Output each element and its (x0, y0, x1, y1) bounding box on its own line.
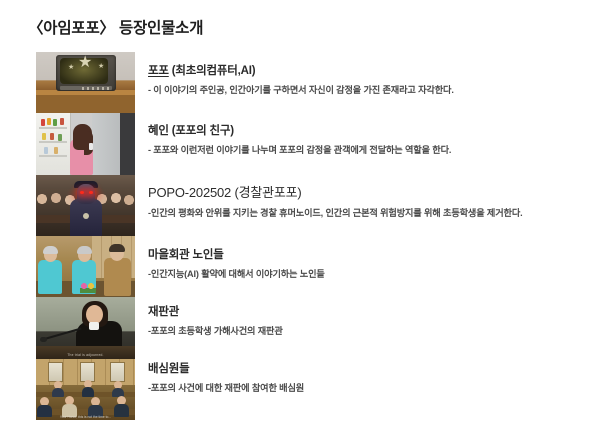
character-entry-judge: 재판관 -포포의 초등학생 가해사건의 재판관 (148, 303, 594, 337)
desk-surface (36, 90, 135, 113)
robot-head (77, 184, 95, 204)
refrigerator-door (92, 113, 120, 174)
police-badge-icon (83, 213, 89, 219)
robot-eye-right (89, 191, 93, 194)
tv-screen (60, 58, 108, 84)
character-entry-hyein: 혜인 (포포의 친구) - 포포와 이런저런 이야기를 나누며 포포의 감정을 … (148, 122, 594, 156)
smartphone-icon (89, 143, 93, 150)
window (110, 362, 125, 382)
fridge-item (41, 119, 45, 126)
thumbnail-vintage-crt-tv (36, 52, 135, 113)
juror-body (82, 387, 94, 397)
fridge-item (53, 119, 57, 126)
thumbnail-column: The trial is adjourned. Your Honor, this (36, 52, 135, 420)
character-name-judge: 재판관 (148, 303, 594, 319)
character-name-rest: (최초의컴퓨터,AI) (169, 65, 256, 77)
character-description-popo: - 이 이야기의 주인공, 인간아기를 구하면서 자신이 감정을 가진 존재라고… (148, 82, 594, 96)
fridge-item (47, 118, 51, 125)
fridge-item (50, 133, 54, 140)
microphone-icon (40, 337, 47, 342)
elder-hair-right (109, 244, 125, 252)
character-entry-village-elders: 마을회관 노인들 -인간지능(AI) 활약에 대해서 이야기하는 노인들 (148, 246, 594, 280)
thumbnail-jurors: Your Honor, this is not the time to... (36, 359, 135, 420)
thumbnail-woman-by-refrigerator (36, 113, 135, 174)
fridge-shelf (39, 127, 67, 129)
character-description-judge: -포포의 초등학생 가해사건의 재판관 (148, 323, 594, 337)
fridge-item (60, 118, 64, 125)
character-entry-jurors: 배심원들 -포포의 사건에 대한 재판에 참여한 배심원 (148, 360, 594, 394)
flowers-icon (80, 283, 96, 293)
refrigerator-interior (36, 113, 71, 174)
character-description-village-elders: -인간지능(AI) 활약에 대해서 이야기하는 노인들 (148, 266, 594, 280)
fridge-shelf (39, 141, 67, 143)
elder-hair-center (77, 246, 92, 254)
character-description-hyein: - 포포와 이런저런 이야기를 나누며 포포의 감정을 관객에게 전달하는 역할… (148, 142, 594, 156)
character-name-jurors: 배심원들 (148, 360, 594, 376)
thumbnail-subtitle: Your Honor, this is not the time to... (36, 415, 135, 419)
character-name-underlined: 포포 (148, 65, 169, 77)
window (48, 362, 63, 382)
character-name-popo-202502: POPO-202502 (경찰관포포) (148, 182, 594, 201)
robot-eye-left (80, 191, 84, 194)
character-name-popo: 포포 (최초의컴퓨터,AI) (148, 62, 594, 78)
character-name-hyein: 혜인 (포포의 친구) (148, 122, 594, 138)
fridge-item (54, 147, 58, 154)
tv-knobs (82, 87, 110, 90)
room-wall (120, 113, 135, 174)
fridge-shelf (39, 155, 67, 157)
thumbnail-police-humanoid (36, 175, 135, 236)
tv-body (56, 55, 116, 91)
elder-body-left (38, 260, 62, 294)
fridge-item (42, 133, 46, 140)
character-description-popo-202502: -인간의 평화와 안위를 지키는 경찰 휴머노이드, 인간의 근본적 위험방지를… (148, 205, 594, 219)
page-title: 〈아임포포〉 등장인물소개 (28, 16, 203, 38)
fridge-item (44, 147, 48, 154)
fridge-item (58, 134, 62, 141)
judge-collar (89, 322, 99, 330)
character-entry-popo-202502: POPO-202502 (경찰관포포) -인간의 평화와 안위를 지키는 경찰 … (148, 182, 594, 219)
character-name-village-elders: 마을회관 노인들 (148, 246, 594, 262)
character-entry-popo: 포포 (최초의컴퓨터,AI) - 이 이야기의 주인공, 인간아기를 구하면서 … (148, 62, 594, 96)
thumbnail-subtitle: The trial is adjourned. (36, 353, 135, 357)
juror-body (52, 388, 64, 397)
slide-canvas: 〈아임포포〉 등장인물소개 (0, 0, 600, 433)
elder-body-right (104, 258, 131, 296)
thumbnail-judge: The trial is adjourned. (36, 297, 135, 358)
character-description-jurors: -포포의 사건에 대한 재판에 참여한 배심원 (148, 380, 594, 394)
thumbnail-village-elders (36, 236, 135, 297)
elder-hair-left (43, 246, 58, 254)
window (80, 362, 95, 382)
